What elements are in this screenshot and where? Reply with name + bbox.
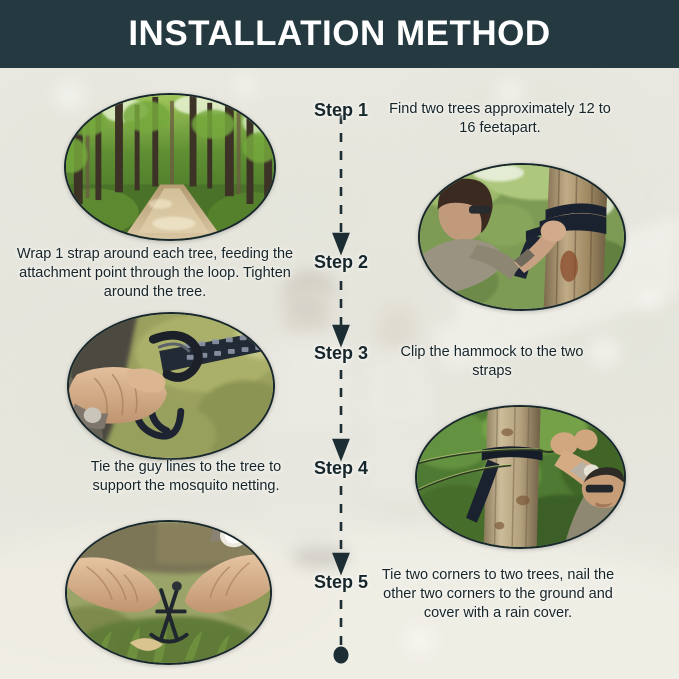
step-5-label: Step 5 <box>314 572 368 593</box>
infographic-page: INSTALLATION METHOD <box>0 0 679 679</box>
step-4-image-guy-line-tree <box>415 405 626 549</box>
step-4-text: Tie the guy lines to the tree to support… <box>72 458 300 496</box>
step-5-text: Tie two corners to two trees, nail the o… <box>378 566 618 623</box>
step-3-label: Step 3 <box>314 343 368 364</box>
page-title: INSTALLATION METHOD <box>128 14 550 54</box>
step-2-image-strap-around-tree <box>418 163 626 311</box>
step-3-image-carabiner-clip <box>67 312 275 460</box>
step-4-label: Step 4 <box>314 458 368 479</box>
step-1-image-forest-trail <box>64 93 276 241</box>
step-3-text: Clip the hammock to the two straps <box>386 343 598 381</box>
step-2-text: Wrap 1 strap around each tree, feeding t… <box>14 245 296 302</box>
step-5-image-ground-stake <box>65 520 272 665</box>
step-1-text: Find two trees approximately 12 to 16 fe… <box>386 100 614 138</box>
step-1-label: Step 1 <box>314 100 368 121</box>
step-2-label: Step 2 <box>314 252 368 273</box>
header-bar: INSTALLATION METHOD <box>0 0 679 68</box>
